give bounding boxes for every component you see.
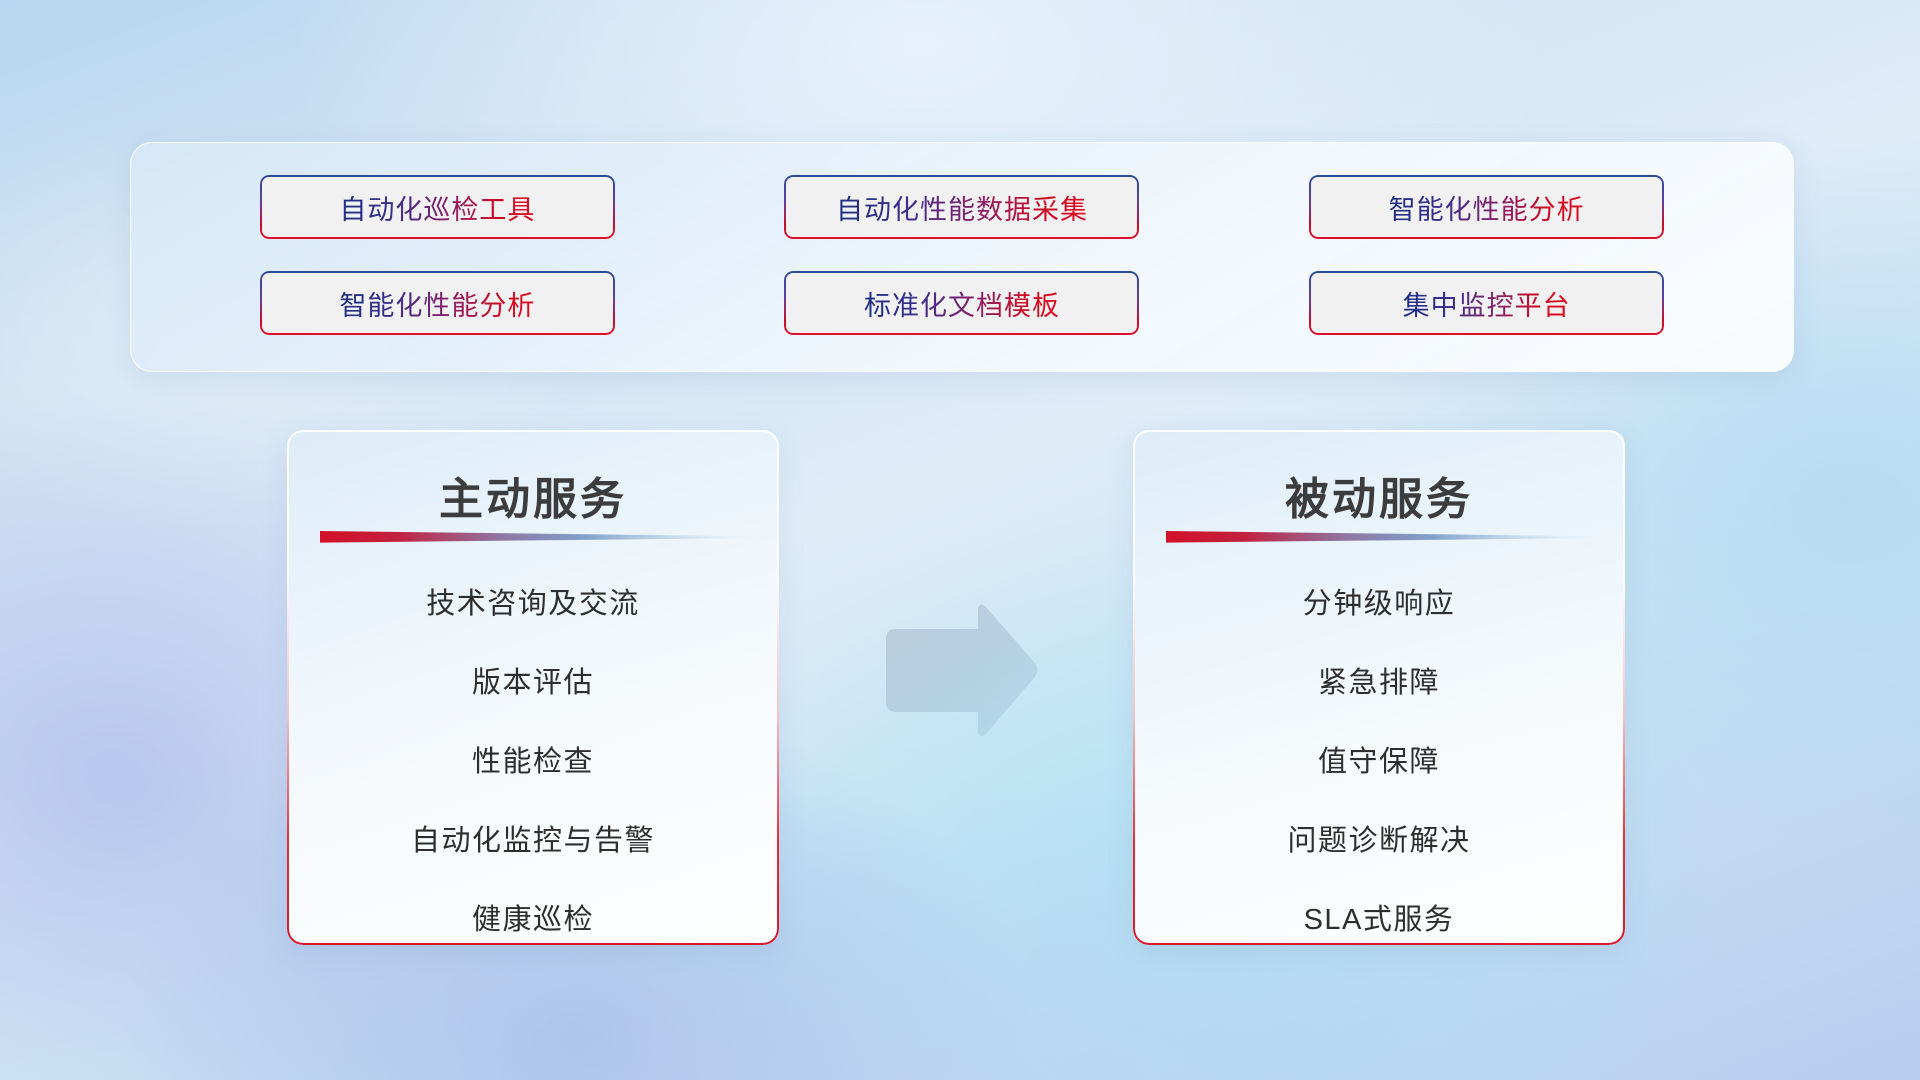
list-item: 性能检查 <box>472 738 594 780</box>
service-card-title: 被动服务 <box>1133 463 1625 527</box>
capability-pills-panel: 自动化巡检工具 自动化性能数据采集 智能化性能分析 智能化性能分析 标准化文档模… <box>130 142 1794 372</box>
service-card-list: 分钟级响应 紧急排障 值守保障 问题诊断解决 SLA式服务 <box>1133 580 1625 938</box>
list-item: 紧急排障 <box>1318 659 1440 701</box>
list-item: 值守保障 <box>1318 738 1440 780</box>
capability-pill-label: 智能化性能分析 <box>1389 188 1585 227</box>
service-card-active: 主动服务 技术咨询及交流 版本评估 性能检查 自动化监控与告警 健康巡检 <box>287 430 779 945</box>
service-card-list: 技术咨询及交流 版本评估 性能检查 自动化监控与告警 健康巡检 <box>287 580 779 938</box>
service-card-passive: 被动服务 分钟级响应 紧急排障 值守保障 问题诊断解决 SLA式服务 <box>1133 430 1625 945</box>
card-divider-accent <box>318 530 750 544</box>
list-item: 自动化监控与告警 <box>411 817 655 859</box>
capability-pill-label: 智能化性能分析 <box>339 284 535 323</box>
capability-pill-label: 自动化巡检工具 <box>339 188 535 227</box>
arrow-right-icon <box>880 600 1040 742</box>
card-divider-accent <box>1164 530 1596 544</box>
list-item: 版本评估 <box>472 659 594 701</box>
list-item: 问题诊断解决 <box>1287 817 1470 859</box>
capability-pill-label: 集中监控平台 <box>1403 284 1571 323</box>
service-card-title: 主动服务 <box>287 463 779 527</box>
capability-pill-label: 标准化文档模板 <box>864 284 1060 323</box>
capability-pill[interactable]: 集中监控平台 <box>1309 271 1664 335</box>
list-item: SLA式服务 <box>1304 896 1455 938</box>
capability-pill[interactable]: 智能化性能分析 <box>1309 175 1664 239</box>
capability-pill[interactable]: 标准化文档模板 <box>784 271 1139 335</box>
capability-pill-grid: 自动化巡检工具 自动化性能数据采集 智能化性能分析 智能化性能分析 标准化文档模… <box>131 143 1793 371</box>
capability-pill[interactable]: 自动化巡检工具 <box>260 175 615 239</box>
capability-pill-label: 自动化性能数据采集 <box>836 188 1088 227</box>
list-item: 分钟级响应 <box>1303 580 1456 622</box>
capability-pill[interactable]: 自动化性能数据采集 <box>784 175 1139 239</box>
list-item: 健康巡检 <box>472 896 594 938</box>
capability-pill[interactable]: 智能化性能分析 <box>260 271 615 335</box>
list-item: 技术咨询及交流 <box>426 580 640 622</box>
